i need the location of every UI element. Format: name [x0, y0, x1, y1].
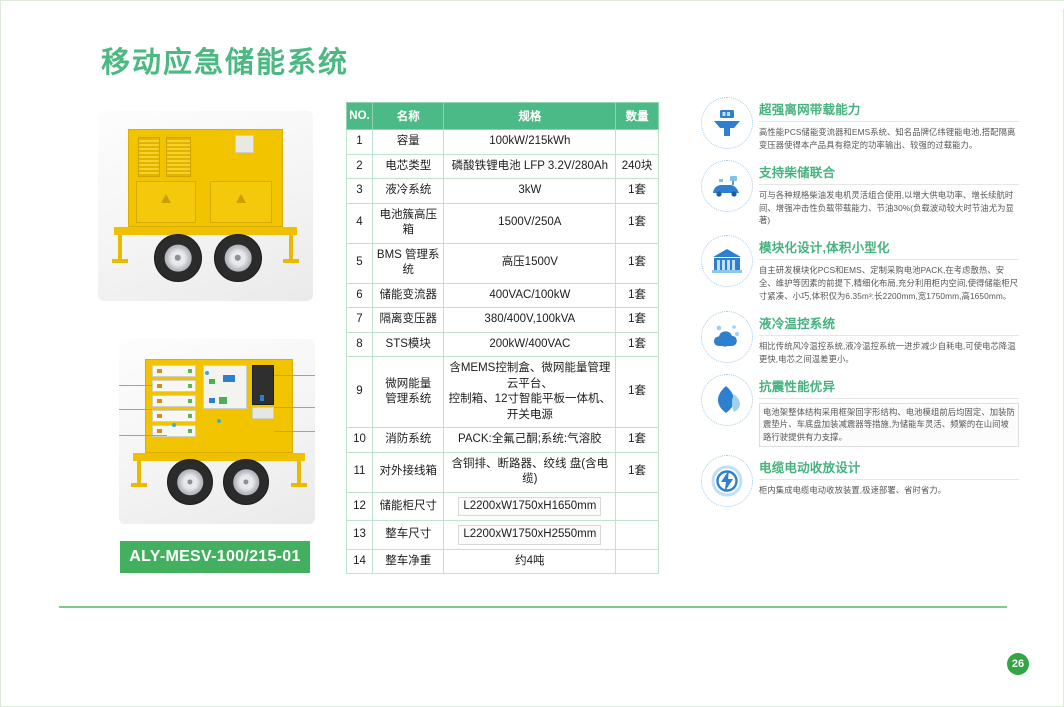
distribution-box [252, 407, 274, 419]
feature-divider [759, 335, 1019, 336]
feature-divider [759, 121, 1019, 122]
cell-no: 11 [347, 452, 373, 492]
cell-no: 5 [347, 243, 373, 283]
feature-description: 可与各种规格柴油发电机灵活组合使用,以增大供电功率、增长续航时间、增强冲击性负载… [759, 189, 1019, 228]
wheel-rear [214, 234, 262, 282]
table-row: 12储能柜尺寸L2200xW1750xH1650mm [347, 492, 659, 521]
column-header-no: NO. [347, 103, 373, 130]
cell-qty: 1套 [616, 308, 659, 333]
wheel-hub-rear [235, 255, 241, 261]
slide-canvas: 移动应急储能系统 [0, 0, 1064, 707]
cell-spec: PACK:全氟己酮;系统:气溶胶 [444, 428, 616, 453]
wheel-rear [223, 459, 269, 505]
chassis-beam [114, 227, 297, 235]
feature-divider [759, 184, 1019, 185]
battery-module [152, 380, 196, 392]
feature-item: 液冷温控系统相比传统风冷温控系统,液冷温控系统一进步减少自耗电,可使电芯降温更快… [701, 311, 1019, 366]
cell-qty [616, 521, 659, 550]
cell-qty: 1套 [616, 332, 659, 357]
support-foot-left [131, 483, 147, 487]
feature-divider [759, 398, 1019, 399]
cell-no: 10 [347, 428, 373, 453]
cell-qty: 1套 [616, 179, 659, 204]
electric-vehicle-charging-icon [701, 160, 753, 212]
cell-name: 储能变流器 [372, 283, 443, 308]
wheel-rim-front [165, 245, 192, 272]
cable-reel-lightning-icon [701, 455, 753, 507]
callout-dot [217, 419, 221, 423]
mobile-energy-storage-trailer-open-image [119, 339, 315, 524]
cell-spec: L2200xW1750xH1650mm [444, 492, 616, 521]
page-number-badge: 26 [1007, 653, 1029, 675]
table-row: 3液冷系统3kW1套 [347, 179, 659, 204]
cell-qty: 1套 [616, 243, 659, 283]
callout-line [274, 407, 315, 408]
cell-no: 8 [347, 332, 373, 357]
cell-qty [616, 549, 659, 574]
feature-text: 支持柴储联合可与各种规格柴油发电机灵活组合使用,以增大供电功率、增长续航时间、增… [759, 160, 1019, 228]
specification-table: NO. 名称 规格 数量 1容量100kW/215kWh2电芯类型磷酸铁锂电池 … [346, 102, 659, 574]
feature-description: 电池架整体结构采用框架回字形结构、电池模组前后均固定、加装防震垫片、车底盘加装减… [759, 403, 1019, 448]
table-row: 8STS模块200kW/400VAC1套 [347, 332, 659, 357]
callout-dot [172, 423, 176, 427]
control-panel [235, 135, 254, 153]
feature-description: 高性能PCS储能变流器和EMS系统、知名品牌亿纬锂能电池,搭配隔离变压器使得本产… [759, 126, 1019, 152]
feature-item: 电缆电动收放设计柜内集成电缆电动收放装置,极速部署、省时省力。 [701, 455, 1019, 507]
feature-divider [759, 479, 1019, 480]
cell-name: BMS 管理系统 [372, 243, 443, 283]
cell-name: 储能柜尺寸 [372, 492, 443, 521]
table-row: 13整车尺寸L2200xW1750xH2550mm [347, 521, 659, 550]
feature-title: 超强离网带载能力 [759, 99, 1019, 118]
cell-qty: 1套 [616, 203, 659, 243]
table-row: 10消防系统PACK:全氟己酮;系统:气溶胶1套 [347, 428, 659, 453]
cell-name: 消防系统 [372, 428, 443, 453]
cell-name: 整车净重 [372, 549, 443, 574]
table-row: 4电池簇高压箱1500V/250A1套 [347, 203, 659, 243]
cell-qty: 240块 [616, 154, 659, 179]
cell-spec: 含MEMS控制盒、微网能量管理云平台、控制箱、12寸智能平板一体机、开关电源 [444, 357, 616, 428]
cell-qty: 1套 [616, 452, 659, 492]
cell-name: STS模块 [372, 332, 443, 357]
feature-item: 抗震性能优异电池架整体结构采用框架回字形结构、电池模组前后均固定、加装防震垫片、… [701, 374, 1019, 448]
feature-description: 柜内集成电缆电动收放装置,极速部署、省时省力。 [759, 484, 1019, 497]
cell-spec: 磷酸铁锂电池 LFP 3.2V/280Ah [444, 154, 616, 179]
model-number-label: ALY-MESV-100/215-01 [120, 541, 310, 573]
cell-name: 整车尺寸 [372, 521, 443, 550]
cell-name: 微网能量管理系统 [372, 357, 443, 428]
feature-item: 模块化设计,体积小型化自主研发模块化PCS和EMS、定制采购电池PACK,在考虑… [701, 235, 1019, 303]
battery-module [152, 395, 196, 407]
cell-spec: L2200xW1750xH2550mm [444, 521, 616, 550]
cell-spec: 100kW/215kWh [444, 130, 616, 155]
mobile-energy-storage-trailer-closed-image [98, 111, 313, 301]
cell-qty [616, 492, 659, 521]
callout-line [119, 385, 152, 386]
warning-triangle-left-icon [161, 194, 171, 203]
wheel-rim-rear [233, 469, 259, 495]
wheel-rim-rear [225, 245, 252, 272]
wheel-front [154, 234, 202, 282]
louver-left [138, 137, 160, 177]
cell-no: 9 [347, 357, 373, 428]
support-foot-right [291, 483, 307, 487]
battery-module [152, 410, 196, 422]
feature-list: 超强离网带载能力高性能PCS储能变流器和EMS系统、知名品牌亿纬锂能电池,搭配隔… [701, 97, 1019, 515]
feature-text: 超强离网带载能力高性能PCS储能变流器和EMS系统、知名品牌亿纬锂能电池,搭配隔… [759, 97, 1019, 152]
feature-text: 电缆电动收放设计柜内集成电缆电动收放装置,极速部署、省时省力。 [759, 455, 1019, 507]
footer-divider [59, 606, 1007, 608]
callout-dot [205, 371, 209, 375]
trailer-closed-graphic [98, 111, 313, 301]
callout-line [119, 435, 167, 436]
cell-no: 3 [347, 179, 373, 204]
cell-qty: 1套 [616, 357, 659, 428]
feature-text: 抗震性能优异电池架整体结构采用框架回字形结构、电池模组前后均固定、加装防震垫片、… [759, 374, 1019, 448]
cell-qty: 1套 [616, 428, 659, 453]
cell-name: 隔离变压器 [372, 308, 443, 333]
cell-name: 对外接线箱 [372, 452, 443, 492]
cell-spec-value: L2200xW1750xH2550mm [458, 525, 601, 545]
wheel-rim-front [177, 469, 203, 495]
cell-no: 4 [347, 203, 373, 243]
table-row: 6储能变流器400VAC/100kW1套 [347, 283, 659, 308]
liquid-cooling-cloud-icon [701, 311, 753, 363]
shock-resistant-leaf-icon [701, 374, 753, 426]
feature-title: 模块化设计,体积小型化 [759, 237, 1019, 256]
cell-name: 液冷系统 [372, 179, 443, 204]
modular-cabinet-icon [701, 235, 753, 287]
cell-spec: 3kW [444, 179, 616, 204]
breaker-green [209, 379, 215, 384]
table-row: 2电芯类型磷酸铁锂电池 LFP 3.2V/280Ah240块 [347, 154, 659, 179]
cell-spec: 约4吨 [444, 549, 616, 574]
table-row: 1容量100kW/215kWh [347, 130, 659, 155]
table-row: 9微网能量管理系统含MEMS控制盒、微网能量管理云平台、控制箱、12寸智能平板一… [347, 357, 659, 428]
cell-spec: 含铜排、断路器、绞线 盘(含电缆) [444, 452, 616, 492]
table-row: 14整车净重约4吨 [347, 549, 659, 574]
cell-no: 2 [347, 154, 373, 179]
cell-spec: 400VAC/100kW [444, 283, 616, 308]
breaker-green-2 [219, 397, 227, 404]
column-header-spec: 规格 [444, 103, 616, 130]
cell-qty: 1套 [616, 283, 659, 308]
support-foot-left [112, 259, 128, 263]
table-row: 7隔离变压器380/400V,100kVA1套 [347, 308, 659, 333]
callout-line [274, 431, 315, 432]
column-header-name: 名称 [372, 103, 443, 130]
wheel-front [167, 459, 213, 505]
cell-name: 电芯类型 [372, 154, 443, 179]
wheel-hub-front [187, 479, 193, 485]
feature-text: 液冷温控系统相比传统风冷温控系统,液冷温控系统一进步减少自耗电,可使电芯降温更快… [759, 311, 1019, 366]
feature-divider [759, 259, 1019, 260]
battery-module [152, 365, 196, 377]
wheel-hub-front [175, 255, 181, 261]
column-header-qty: 数量 [616, 103, 659, 130]
table-header-row: NO. 名称 规格 数量 [347, 103, 659, 130]
cell-no: 12 [347, 492, 373, 521]
chassis-beam [133, 453, 305, 461]
feature-title: 电缆电动收放设计 [759, 457, 1019, 476]
top-strip [1, 1, 1064, 9]
feature-title: 液冷温控系统 [759, 313, 1019, 332]
feature-title: 支持柴储联合 [759, 162, 1019, 181]
feature-description: 相比传统风冷温控系统,液冷温控系统一进步减少自耗电,可使电芯降温更快,电芯之间温… [759, 340, 1019, 366]
rack-indicator [260, 395, 264, 401]
cell-spec: 200kW/400VAC [444, 332, 616, 357]
cell-no: 14 [347, 549, 373, 574]
cell-no: 13 [347, 521, 373, 550]
table-row: 5BMS 管理系统高压1500V1套 [347, 243, 659, 283]
cell-spec: 380/400V,100kVA [444, 308, 616, 333]
louver-right [166, 137, 191, 177]
pcs-unit [223, 375, 235, 382]
terminal-blue [209, 398, 215, 403]
cell-no: 6 [347, 283, 373, 308]
trailer-open-graphic [119, 339, 315, 524]
cell-spec: 高压1500V [444, 243, 616, 283]
feature-item: 超强离网带载能力高性能PCS储能变流器和EMS系统、知名品牌亿纬锂能电池,搭配隔… [701, 97, 1019, 152]
feature-description: 自主研发模块化PCS和EMS、定制采购电池PACK,在考虑散热、安全、维护等因素… [759, 264, 1019, 303]
wheel-hub-rear [243, 479, 249, 485]
cell-no: 1 [347, 130, 373, 155]
feature-title: 抗震性能优异 [759, 376, 1019, 395]
page-title: 移动应急储能系统 [101, 39, 349, 81]
cell-no: 7 [347, 308, 373, 333]
battery-transformer-icon [701, 97, 753, 149]
cell-name: 容量 [372, 130, 443, 155]
feature-text: 模块化设计,体积小型化自主研发模块化PCS和EMS、定制采购电池PACK,在考虑… [759, 235, 1019, 303]
feature-item: 支持柴储联合可与各种规格柴油发电机灵活组合使用,以增大供电功率、增长续航时间、增… [701, 160, 1019, 228]
support-foot-right [283, 259, 299, 263]
table-row: 11对外接线箱含铜排、断路器、绞线 盘(含电缆)1套 [347, 452, 659, 492]
callout-line [119, 409, 152, 410]
callout-line [274, 375, 315, 376]
cell-spec-value: L2200xW1750xH1650mm [458, 497, 601, 517]
warning-triangle-right-icon [236, 194, 246, 203]
cell-qty [616, 130, 659, 155]
cell-name: 电池簇高压箱 [372, 203, 443, 243]
cell-spec: 1500V/250A [444, 203, 616, 243]
